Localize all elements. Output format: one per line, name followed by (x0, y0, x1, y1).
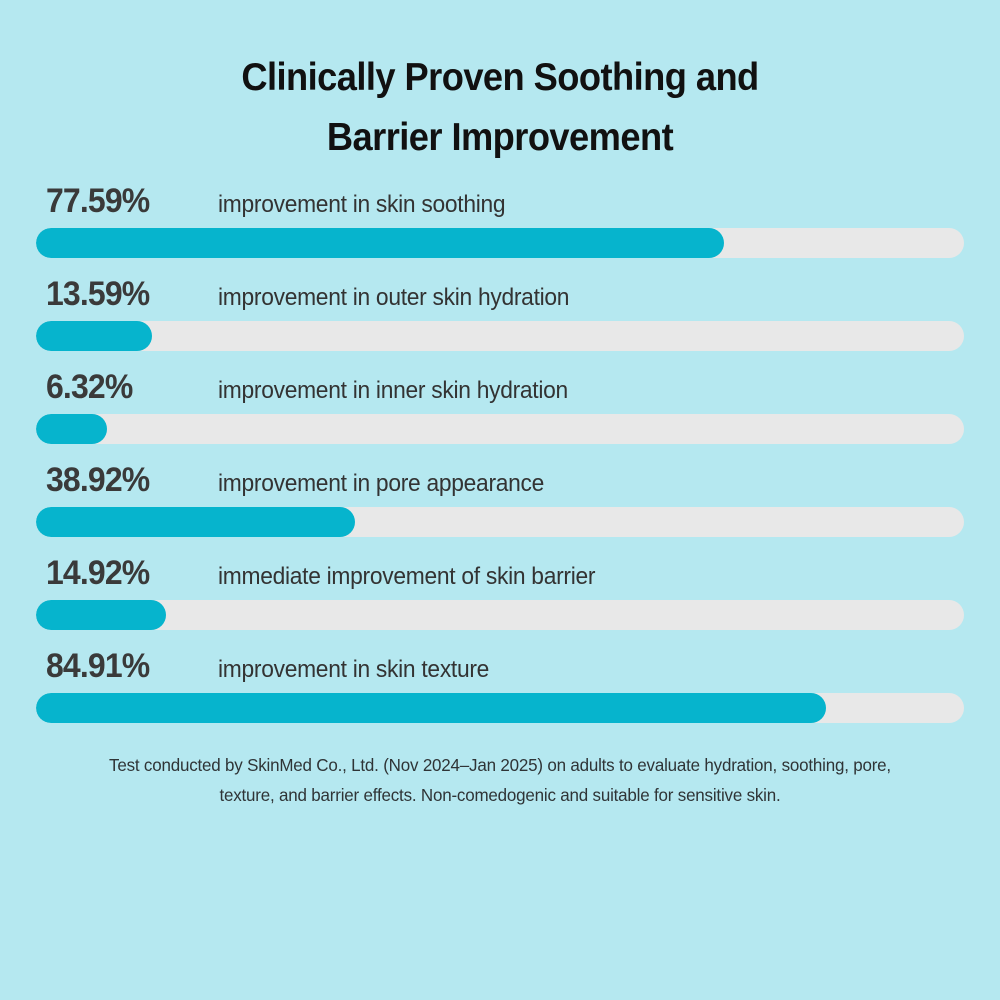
bar-row: 84.91% improvement in skin texture (36, 647, 964, 723)
bar-row: 38.92% improvement in pore appearance (36, 461, 964, 537)
bar-label-group: 84.91% improvement in skin texture (36, 647, 964, 685)
bar-track (36, 228, 964, 258)
bar-track (36, 507, 964, 537)
chart-title-line-1: Clinically Proven Soothing and (91, 48, 909, 108)
bar-value-label: 84.91% (46, 647, 208, 685)
bar-value-label: 13.59% (46, 275, 208, 313)
bar-fill (36, 600, 166, 630)
bar-row: 13.59% improvement in outer skin hydrati… (36, 275, 964, 351)
chart-title-line-2: Barrier Improvement (91, 108, 909, 168)
footnote-line-2: texture, and barrier effects. Non-comedo… (54, 780, 946, 810)
bar-track (36, 693, 964, 723)
bar-fill (36, 321, 152, 351)
bar-description-label: immediate improvement of skin barrier (218, 562, 595, 592)
bar-label-group: 14.92% immediate improvement of skin bar… (36, 554, 964, 592)
bar-value-label: 6.32% (46, 368, 208, 406)
bar-label-group: 38.92% improvement in pore appearance (36, 461, 964, 499)
bar-track (36, 414, 964, 444)
bar-row: 14.92% immediate improvement of skin bar… (36, 554, 964, 630)
bar-fill (36, 507, 355, 537)
bar-fill (36, 228, 724, 258)
bar-description-label: improvement in outer skin hydration (218, 283, 569, 313)
footnote-line-1: Test conducted by SkinMed Co., Ltd. (Nov… (54, 750, 946, 780)
bar-label-group: 13.59% improvement in outer skin hydrati… (36, 275, 964, 313)
bar-row: 6.32% improvement in inner skin hydratio… (36, 368, 964, 444)
bar-chart: 77.59% improvement in skin soothing 13.5… (0, 182, 1000, 740)
bar-fill (36, 693, 826, 723)
bar-description-label: improvement in inner skin hydration (218, 376, 568, 406)
bar-fill (36, 414, 107, 444)
footnote: Test conducted by SkinMed Co., Ltd. (Nov… (0, 750, 1000, 810)
bar-value-label: 77.59% (46, 182, 208, 220)
bar-description-label: improvement in pore appearance (218, 469, 544, 499)
bar-value-label: 38.92% (46, 461, 208, 499)
chart-title: Clinically Proven Soothing and Barrier I… (0, 0, 1000, 168)
bar-description-label: improvement in skin texture (218, 655, 489, 685)
bar-row: 77.59% improvement in skin soothing (36, 182, 964, 258)
bar-description-label: improvement in skin soothing (218, 190, 505, 220)
bar-value-label: 14.92% (46, 554, 208, 592)
bar-track (36, 600, 964, 630)
bar-label-group: 6.32% improvement in inner skin hydratio… (36, 368, 964, 406)
bar-label-group: 77.59% improvement in skin soothing (36, 182, 964, 220)
infographic-root: Clinically Proven Soothing and Barrier I… (0, 0, 1000, 1000)
bar-track (36, 321, 964, 351)
